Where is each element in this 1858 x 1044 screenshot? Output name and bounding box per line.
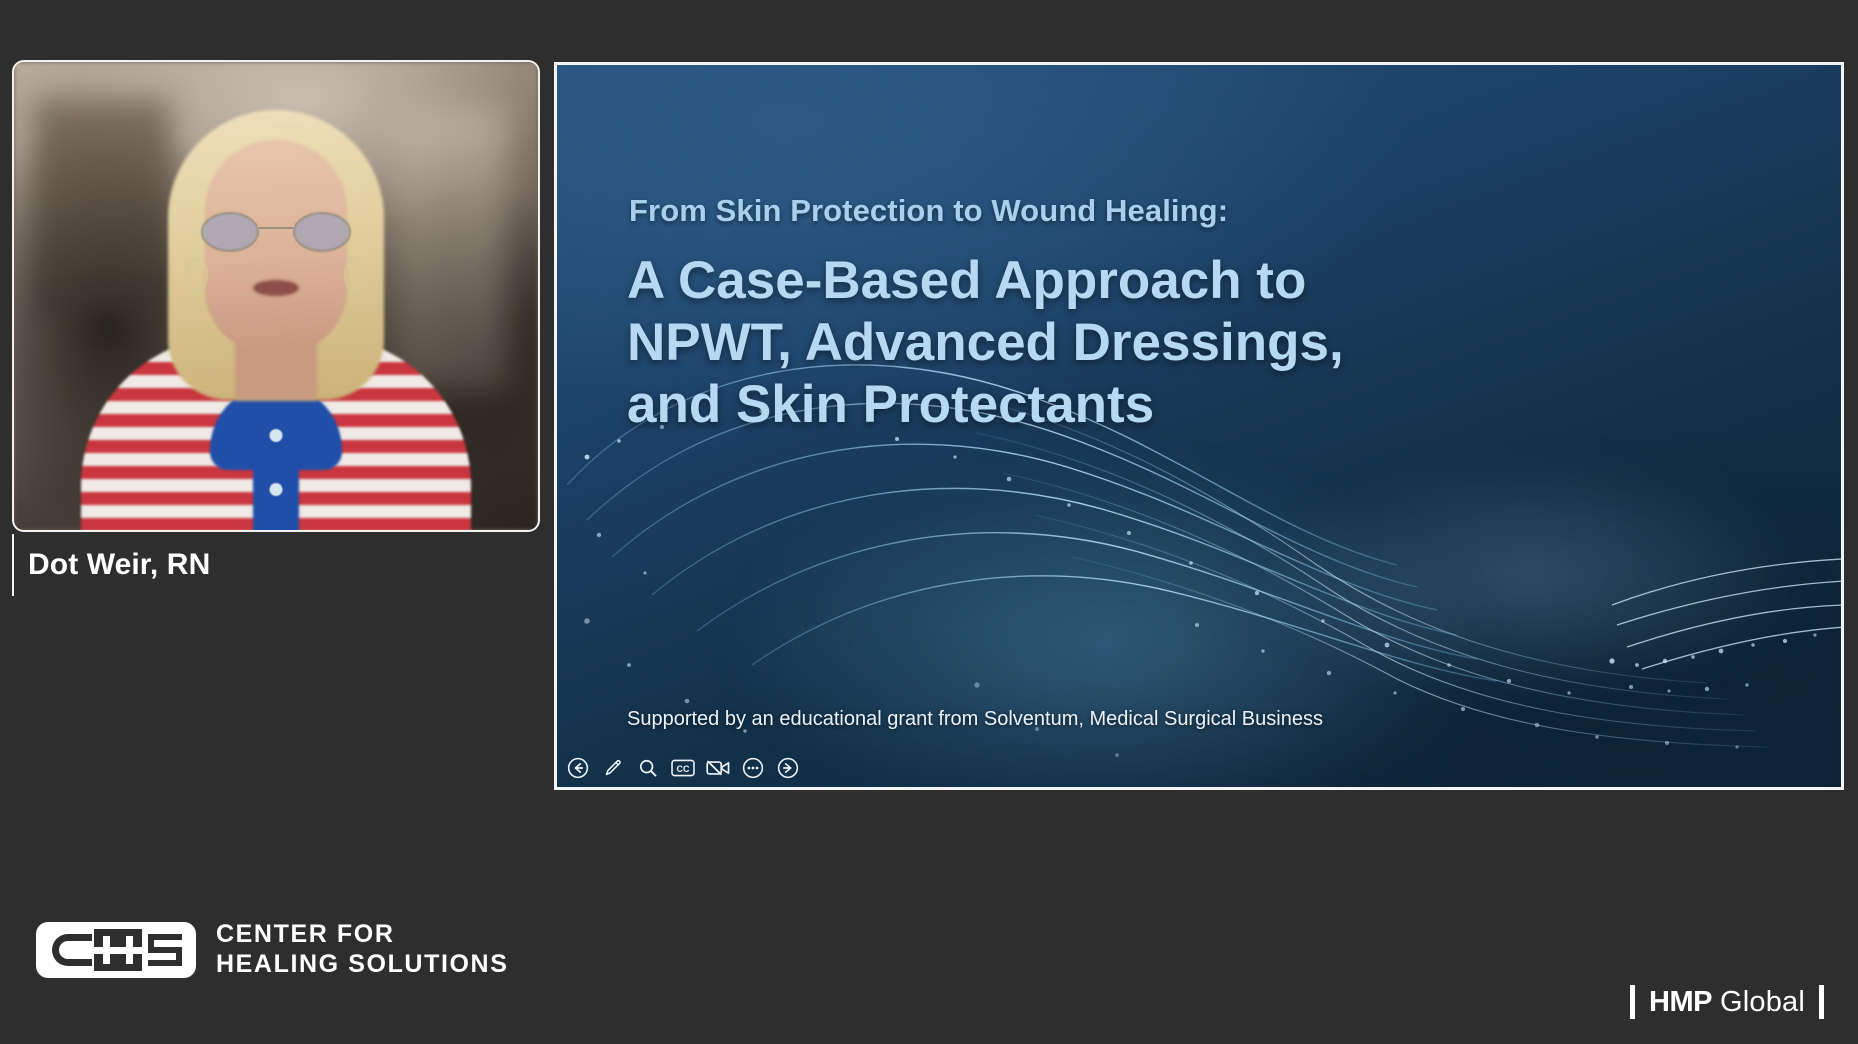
video-off-icon[interactable] — [705, 755, 731, 781]
grant-statement: Supported by an educational grant from S… — [627, 708, 1323, 731]
annotate-pencil-icon[interactable] — [600, 755, 626, 781]
slide-viewer[interactable]: From Skin Protection to Wound Healing: A… — [554, 62, 1844, 790]
presenter-name-label: Dot Weir, RN — [14, 548, 210, 582]
svg-text:CC: CC — [677, 764, 690, 774]
glasses-bridge — [259, 227, 293, 229]
more-options-icon[interactable] — [740, 755, 766, 781]
mouth — [253, 280, 299, 296]
app-window: Dot Weir, RN — [0, 0, 1858, 1044]
presenter-figure — [14, 62, 538, 530]
previous-slide-icon[interactable] — [565, 755, 591, 781]
slide-subtitle: From Skin Protection to Wound Healing: — [629, 193, 1228, 229]
closed-captions-icon[interactable]: CC — [670, 755, 696, 781]
eyeglasses-icon — [201, 212, 351, 252]
hmp-bar-right — [1819, 985, 1824, 1019]
slide-toolbar[interactable]: CC — [565, 755, 801, 781]
chs-wordmark-line-2: HEALING SOLUTIONS — [216, 950, 508, 980]
chs-letter-h-crossbar — [94, 947, 142, 954]
hmp-text: HMP — [1649, 986, 1712, 1019]
chs-letter-s — [148, 934, 182, 966]
chs-wordmark: CENTER FOR HEALING SOLUTIONS — [216, 920, 508, 979]
chs-letter-c — [52, 934, 92, 966]
slide-title-line-1: A Case-Based Approach to — [627, 250, 1527, 312]
lens-right — [293, 212, 351, 252]
earring-left — [186, 258, 208, 292]
slide-title-line-2: NPWT, Advanced Dressings, — [627, 312, 1527, 374]
shirt-button-bottom — [270, 483, 283, 496]
chs-wordmark-line-1: CENTER FOR — [216, 920, 508, 950]
chs-monogram-icon — [36, 922, 196, 978]
slide-title-line-3: and Skin Protectants — [627, 374, 1527, 436]
presenter-video-tile[interactable] — [12, 60, 540, 532]
shirt-button-top — [270, 429, 283, 442]
chs-logo: CENTER FOR HEALING SOLUTIONS — [36, 920, 508, 979]
slide-title: A Case-Based Approach to NPWT, Advanced … — [627, 250, 1527, 436]
hmp-wordmark: HMP Global — [1649, 986, 1805, 1019]
global-text: Global — [1720, 986, 1805, 1019]
hmp-bar-left — [1630, 985, 1635, 1019]
next-slide-icon[interactable] — [775, 755, 801, 781]
lens-left — [201, 212, 259, 252]
earring-right — [344, 258, 366, 292]
presenter-name-bar: Dot Weir, RN — [12, 534, 540, 596]
zoom-magnifier-icon[interactable] — [635, 755, 661, 781]
hmp-global-logo: HMP Global — [1630, 985, 1824, 1019]
